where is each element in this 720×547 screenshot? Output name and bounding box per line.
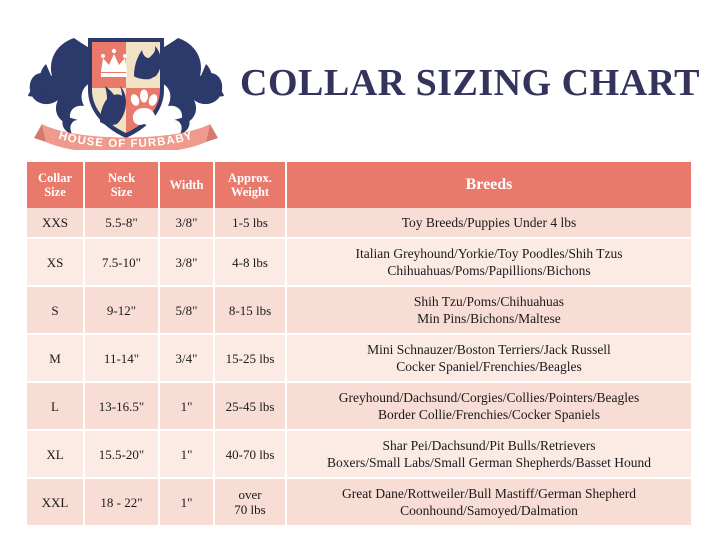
table-row: XXL 18 - 22" 1" over 70 lbs Great Dane/R… <box>27 478 691 525</box>
column-header-collar-size-line1: Collar <box>29 171 81 185</box>
cell-approx-weight-line1: 15-25 lbs <box>218 351 282 366</box>
table-header: Collar Size Neck Size Width Approx. Weig… <box>27 162 691 208</box>
cell-breeds-line2: Coonhound/Samoyed/Dalmation <box>295 502 683 519</box>
cell-breeds-line1: Toy Breeds/Puppies Under 4 lbs <box>295 214 683 231</box>
cell-collar-size: XXL <box>27 478 84 525</box>
table-row: M 11-14" 3/4" 15-25 lbs Mini Schnauzer/B… <box>27 334 691 382</box>
cell-approx-weight: 15-25 lbs <box>214 334 286 382</box>
logo-flourish-left <box>28 38 98 134</box>
cell-collar-size: L <box>27 382 84 430</box>
column-header-breeds-line1: Breeds <box>289 178 689 192</box>
column-header-breeds: Breeds <box>286 162 691 208</box>
cell-approx-weight-line1: 40-70 lbs <box>218 447 282 462</box>
page-title: COLLAR SIZING CHART <box>240 60 700 106</box>
cell-width: 3/4" <box>159 334 214 382</box>
house-of-furbaby-logo: HOUSE OF FURBABY <box>16 20 236 150</box>
cell-breeds-line1: Shar Pei/Dachsund/Pit Bulls/Retrievers <box>295 437 683 454</box>
cell-breeds: Toy Breeds/Puppies Under 4 lbs <box>286 208 691 238</box>
cell-approx-weight-line1: 1-5 lbs <box>218 215 282 230</box>
cell-collar-size: XS <box>27 238 84 286</box>
table-header-row: Collar Size Neck Size Width Approx. Weig… <box>27 162 691 208</box>
column-header-approx-weight-line1: Approx. <box>217 171 283 185</box>
cell-collar-size: XL <box>27 430 84 478</box>
cell-approx-weight-line1: 25-45 lbs <box>218 399 282 414</box>
cell-breeds-line1: Mini Schnauzer/Boston Terriers/Jack Russ… <box>295 341 683 358</box>
cell-approx-weight: 25-45 lbs <box>214 382 286 430</box>
collar-sizing-table: Collar Size Neck Size Width Approx. Weig… <box>27 162 691 525</box>
collar-sizing-chart-page: HOUSE OF FURBABY COLLAR SIZING CHART Col… <box>0 0 720 547</box>
table-row: S 9-12" 5/8" 8-15 lbs Shih Tzu/Poms/Chih… <box>27 286 691 334</box>
cell-neck-size: 9-12" <box>84 286 159 334</box>
table-row: XXS 5.5-8" 3/8" 1-5 lbs Toy Breeds/Puppi… <box>27 208 691 238</box>
cell-neck-size: 7.5-10" <box>84 238 159 286</box>
cell-approx-weight-line1: 8-15 lbs <box>218 303 282 318</box>
column-header-collar-size-line2: Size <box>29 185 81 199</box>
cell-neck-size: 5.5-8" <box>84 208 159 238</box>
cell-breeds-line1: Italian Greyhound/Yorkie/Toy Poodles/Shi… <box>295 245 683 262</box>
column-header-neck-size-line2: Size <box>87 185 156 199</box>
page-header: HOUSE OF FURBABY COLLAR SIZING CHART <box>0 0 720 155</box>
cell-breeds-line2: Cocker Spaniel/Frenchies/Beagles <box>295 358 683 375</box>
cell-breeds: Shih Tzu/Poms/Chihuahuas Min Pins/Bichon… <box>286 286 691 334</box>
table-body: XXS 5.5-8" 3/8" 1-5 lbs Toy Breeds/Puppi… <box>27 208 691 525</box>
cell-approx-weight: 1-5 lbs <box>214 208 286 238</box>
sizing-table-container: Collar Size Neck Size Width Approx. Weig… <box>27 162 691 525</box>
column-header-approx-weight-line2: Weight <box>217 185 283 199</box>
logo-flourish-right <box>154 38 224 134</box>
cell-collar-size: S <box>27 286 84 334</box>
cell-width: 1" <box>159 478 214 525</box>
cell-approx-weight: over 70 lbs <box>214 478 286 525</box>
cell-approx-weight-line1: over <box>218 487 282 502</box>
cell-neck-size: 11-14" <box>84 334 159 382</box>
cell-approx-weight-line1: 4-8 lbs <box>218 255 282 270</box>
column-header-neck-size: Neck Size <box>84 162 159 208</box>
column-header-collar-size: Collar Size <box>27 162 84 208</box>
cell-breeds-line2: Chihuahuas/Poms/Papillions/Bichons <box>295 262 683 279</box>
cell-approx-weight-line2: 70 lbs <box>218 502 282 517</box>
cell-breeds: Great Dane/Rottweiler/Bull Mastiff/Germa… <box>286 478 691 525</box>
cell-neck-size: 18 - 22" <box>84 478 159 525</box>
cell-approx-weight: 4-8 lbs <box>214 238 286 286</box>
column-header-neck-size-line1: Neck <box>87 171 156 185</box>
column-header-width: Width <box>159 162 214 208</box>
cell-collar-size: M <box>27 334 84 382</box>
cell-approx-weight: 40-70 lbs <box>214 430 286 478</box>
cell-breeds: Mini Schnauzer/Boston Terriers/Jack Russ… <box>286 334 691 382</box>
cell-breeds-line1: Shih Tzu/Poms/Chihuahuas <box>295 293 683 310</box>
cell-breeds-line2: Border Collie/Frenchies/Cocker Spaniels <box>295 406 683 423</box>
table-row: XS 7.5-10" 3/8" 4-8 lbs Italian Greyhoun… <box>27 238 691 286</box>
cell-breeds: Greyhound/Dachsund/Corgies/Collies/Point… <box>286 382 691 430</box>
column-header-width-line1: Width <box>162 178 211 192</box>
cell-neck-size: 13-16.5" <box>84 382 159 430</box>
table-row: L 13-16.5" 1" 25-45 lbs Greyhound/Dachsu… <box>27 382 691 430</box>
cell-breeds: Shar Pei/Dachsund/Pit Bulls/Retrievers B… <box>286 430 691 478</box>
table-row: XL 15.5-20" 1" 40-70 lbs Shar Pei/Dachsu… <box>27 430 691 478</box>
cell-breeds: Italian Greyhound/Yorkie/Toy Poodles/Shi… <box>286 238 691 286</box>
cell-neck-size: 15.5-20" <box>84 430 159 478</box>
cell-breeds-line1: Greyhound/Dachsund/Corgies/Collies/Point… <box>295 389 683 406</box>
cell-width: 3/8" <box>159 208 214 238</box>
cell-collar-size: XXS <box>27 208 84 238</box>
cell-breeds-line2: Min Pins/Bichons/Maltese <box>295 310 683 327</box>
cell-breeds-line2: Boxers/Small Labs/Small German Shepherds… <box>295 454 683 471</box>
column-header-approx-weight: Approx. Weight <box>214 162 286 208</box>
cell-approx-weight: 8-15 lbs <box>214 286 286 334</box>
cell-width: 5/8" <box>159 286 214 334</box>
cell-width: 3/8" <box>159 238 214 286</box>
cell-width: 1" <box>159 430 214 478</box>
cell-width: 1" <box>159 382 214 430</box>
cell-breeds-line1: Great Dane/Rottweiler/Bull Mastiff/Germa… <box>295 485 683 502</box>
